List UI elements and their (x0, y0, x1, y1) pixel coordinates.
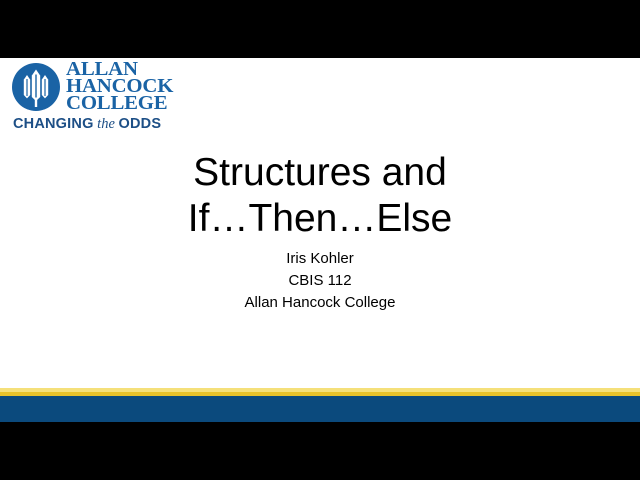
title-line-1: Structures and (0, 150, 640, 196)
letterbox-bar-bottom (0, 422, 640, 480)
tagline-the: the (94, 116, 119, 132)
slide-accent-bars (0, 388, 640, 422)
college-logo-lockup: ALLAN HANCOCK COLLEGE CHANGING the ODDS (11, 60, 201, 132)
wordmark-line-college: COLLEGE (66, 95, 173, 112)
letterbox-bar-top (0, 0, 640, 58)
tagline-changing: CHANGING (13, 116, 94, 132)
tagline-odds: ODDS (119, 116, 162, 132)
college-wordmark: ALLAN HANCOCK COLLEGE (66, 60, 169, 112)
logo-top-row: ALLAN HANCOCK COLLEGE (11, 60, 201, 112)
video-player-frame: ALLAN HANCOCK COLLEGE CHANGING the ODDS … (0, 0, 640, 480)
accent-bar-navy (0, 396, 640, 422)
subtitle-college: Allan Hancock College (0, 292, 640, 314)
slide-title: Structures and If…Then…Else (0, 150, 640, 242)
college-seal-icon (11, 62, 61, 112)
presentation-slide: ALLAN HANCOCK COLLEGE CHANGING the ODDS … (0, 58, 640, 422)
subtitle-course: CBIS 112 (0, 270, 640, 292)
subtitle-author: Iris Kohler (0, 248, 640, 270)
slide-subtitle: Iris Kohler CBIS 112 Allan Hancock Colle… (0, 248, 640, 314)
college-tagline: CHANGING the ODDS (13, 116, 201, 132)
title-line-2: If…Then…Else (0, 196, 640, 242)
